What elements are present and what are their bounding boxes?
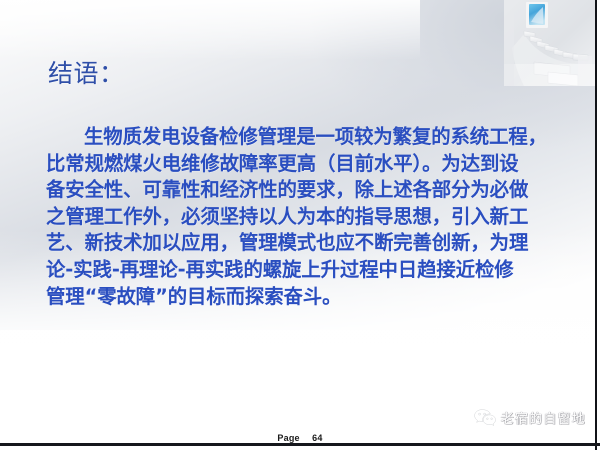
watermark-text: 老宿的自留地 (501, 408, 586, 427)
presentation-slide: 结语： 生物质发电设备检修管理是一项较为繁复的系统工程， 比常规燃煤火电维修故障… (0, 0, 600, 450)
body-line: 生物质发电设备检修管理是一项较为繁复的系统工程， (46, 124, 558, 151)
frame-edge-bottom-outer (0, 446, 600, 450)
body-line: 艺、新技术加以应用，管理模式也应不断完善创新，为理 (46, 230, 558, 257)
slide-body-text: 生物质发电设备检修管理是一项较为繁复的系统工程， 比常规燃煤火电维修故障率更高（… (46, 124, 558, 310)
page-number: 64 (312, 433, 322, 443)
page-label: Page (277, 433, 299, 443)
body-line: 备安全性、可靠性和经济性的要求，除上述各部分为必做 (46, 177, 558, 204)
background-top-light (0, 0, 420, 60)
frame-edge-right (595, 0, 597, 450)
wechat-icon (474, 409, 496, 426)
slide-title: 结语： (48, 58, 125, 90)
frame-edge-bottom (0, 443, 600, 446)
body-line: 论-实践-再理论-再实践的螺旋上升过程中日趋接近检修 (46, 257, 558, 284)
body-line: 管理“零故障”的目标而探索奋斗。 (46, 284, 558, 311)
wechat-watermark: 老宿的自留地 (474, 408, 586, 427)
body-line: 比常规燃煤火电维修故障率更高（目前水平）。为达到设 (46, 151, 558, 178)
body-line: 之管理工作外，必须坚持以人为本的指导思想，引入新工 (46, 204, 558, 231)
staircase-photo (504, 0, 596, 86)
